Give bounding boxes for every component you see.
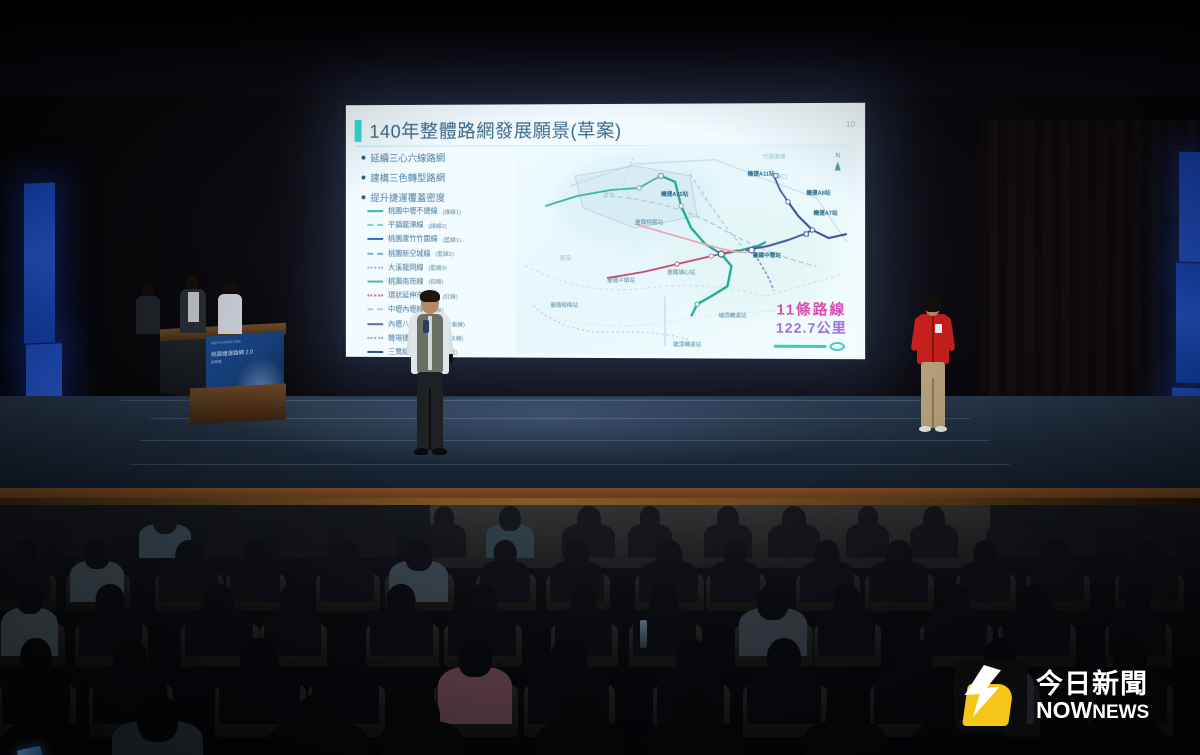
- audience-member: [112, 694, 203, 755]
- legend-line-swatch: [367, 337, 383, 339]
- audience-head: [359, 506, 383, 534]
- audience-head: [671, 694, 716, 746]
- audience-head: [1000, 506, 1024, 534]
- audience-head: [826, 694, 864, 738]
- stage-rail: [0, 498, 1200, 505]
- legend-line-swatch: [367, 252, 383, 254]
- slide-bullet-list: 延續三心六線路網 建構三色轉型路網 提升捷運覆蓋密度: [362, 150, 510, 210]
- stage-attendee-centre: [178, 276, 208, 332]
- floor-plank-line: [130, 464, 1010, 465]
- audience-member: [380, 694, 463, 755]
- legend-tag: (綠線2): [428, 221, 446, 230]
- map-station-label: 機捷A7站: [813, 209, 837, 217]
- route-network-map: 竹圍漁港機捷A11站機捷A15站機捷A8站機捷A7站林口蘆竹臺鐵桃園站臺鐵中壢站…: [515, 145, 855, 355]
- audience-head: [885, 540, 912, 571]
- audience-head: [295, 694, 340, 746]
- bullet-dot-icon: [362, 195, 366, 199]
- audience-head: [294, 506, 316, 531]
- legend-line-swatch: [367, 323, 383, 325]
- audience-head: [405, 540, 432, 571]
- banner-organisation: 桃園市政府捷運工程局: [211, 339, 241, 345]
- map-station-label: 觀音: [560, 254, 571, 262]
- stage-attendee-right: [218, 282, 244, 332]
- audience-head: [550, 638, 587, 681]
- legend-line-swatch: [367, 309, 383, 311]
- podium-banner: 桃園市政府捷運工程局 桃園捷運路網 2.0 說明會: [206, 331, 284, 390]
- legend-row: 平鎮龍潭線(綠線2): [367, 220, 515, 230]
- staff-leg-gap: [932, 378, 934, 428]
- legend-row: 大溪龍岡線(藍線3): [367, 262, 515, 272]
- torso: [136, 296, 160, 334]
- legend-tag: (棕線): [428, 277, 443, 286]
- audience-head: [499, 506, 521, 531]
- headline-line-count: 11條路線: [776, 303, 847, 320]
- audience-shoulders: [818, 608, 875, 656]
- audience-head: [723, 540, 746, 566]
- microphone-icon: [423, 320, 429, 333]
- presenter: [404, 292, 456, 470]
- legend-row: 桃園中壢不捷線(綠線1): [367, 206, 515, 216]
- audience-head: [387, 584, 416, 617]
- ceiling-dark-area: [0, 0, 1200, 95]
- legend-line-swatch: [367, 295, 383, 297]
- compass-north-label: N: [836, 153, 840, 159]
- presenter-leg-gap: [429, 388, 431, 450]
- audience-head: [857, 506, 877, 529]
- audience-head: [1044, 540, 1069, 569]
- bullet-item: 建構三色轉型路網: [362, 170, 510, 184]
- floor-plank-line: [140, 440, 990, 441]
- audience-head: [1141, 506, 1163, 531]
- auditorium-scene: 140年整體路網發展願景(草案) 10 延續三心六線路網 建構三色轉型路網 提升…: [0, 0, 1200, 755]
- banner-title: 桃園捷運路網 2.0: [211, 347, 253, 358]
- audience-head: [717, 506, 739, 531]
- audience-head: [26, 694, 64, 738]
- map-station-label: 機捷A11站: [748, 170, 775, 178]
- bullet-text: 延續三心六線路網: [370, 150, 445, 164]
- audience-head: [153, 506, 177, 534]
- audience-member: [4, 694, 87, 755]
- blue-light-panel-left-upper: [24, 182, 55, 343]
- audience-head: [561, 694, 603, 742]
- legend-label: 大溪龍岡線: [388, 262, 423, 272]
- audience-member: [818, 584, 875, 656]
- audience-head: [216, 506, 236, 529]
- audience-head: [833, 584, 859, 614]
- bullet-item: 提升捷運覆蓋密度: [362, 190, 510, 204]
- audience-head: [895, 638, 932, 681]
- legend-line-swatch: [367, 238, 383, 240]
- audience-head: [577, 506, 601, 534]
- legend-label: 桃園南崁線: [388, 277, 423, 287]
- legend-line-swatch: [367, 224, 383, 226]
- headline-length: 122.7公里: [776, 320, 847, 337]
- audience-head: [650, 584, 679, 617]
- audience-head: [137, 694, 179, 742]
- title-accent-bar: [355, 120, 362, 142]
- map-station-label: 機捷A8站: [806, 189, 830, 197]
- department-logo: [774, 342, 845, 351]
- bullet-item: 延續三心六線路網: [362, 150, 510, 164]
- audience-head: [571, 584, 597, 614]
- audience-head: [941, 584, 970, 617]
- legend-label: 平鎮龍潭線: [388, 220, 423, 230]
- map-station-label: 臺鐵桃園站: [635, 218, 663, 226]
- audience-head: [175, 540, 202, 571]
- watermark-text: 今日新聞 NOWNEWS: [1036, 671, 1149, 722]
- legend-label: 桃園蘆竹竹圍線: [388, 234, 438, 244]
- audience-head: [458, 638, 492, 677]
- map-station-label: 林口: [776, 173, 787, 181]
- audience-member: [320, 540, 374, 602]
- legend-row: 桃園新空城線(藍線2): [367, 248, 515, 258]
- audience-member: [536, 694, 627, 755]
- audience-head: [280, 584, 306, 614]
- watermark-news: NEWS: [1092, 702, 1149, 723]
- map-station-label: 臺鐵楊梅站: [550, 301, 578, 309]
- map-station-label: 機捷A15站: [661, 190, 688, 198]
- audience-head: [564, 540, 589, 569]
- blue-light-panel-right-middle: [1176, 262, 1200, 383]
- staff-right-shoe: [935, 426, 947, 432]
- audience-head: [330, 638, 361, 674]
- map-station-label: 埔頂轉運站: [718, 311, 746, 319]
- audience-head: [334, 540, 359, 569]
- bullet-dot-icon: [362, 175, 366, 179]
- audience-member: [281, 506, 329, 558]
- audience-head: [814, 540, 839, 569]
- audience-head: [466, 584, 497, 620]
- audience-head: [1124, 584, 1150, 614]
- staff-badge: [935, 324, 942, 333]
- water-bottle: [640, 620, 647, 648]
- slide-page-number: 10: [846, 120, 855, 129]
- banner-subtitle: 說明會: [211, 360, 222, 366]
- legend-line-swatch: [367, 210, 383, 212]
- legend-line-swatch: [367, 351, 383, 353]
- audience-head: [17, 584, 43, 614]
- map-station-label: 臺鐵平鎮站: [607, 276, 635, 284]
- staff-left-shoe: [919, 426, 931, 432]
- legend-label: 桃園新空城線: [388, 248, 430, 258]
- audience-head: [640, 506, 660, 529]
- audience-member: [645, 694, 744, 755]
- slide-title: 140年整體路網發展願景(草案): [369, 117, 621, 144]
- legend-tag: (藍線1): [443, 235, 461, 244]
- audience-head: [767, 638, 801, 677]
- presenter-left-shoe: [414, 448, 428, 455]
- audience-head: [923, 506, 945, 531]
- audience-head: [1135, 540, 1162, 571]
- stage-attendee-left: [136, 284, 162, 332]
- map-station-label: 臺鐵埔心站: [667, 268, 695, 276]
- audience-head: [241, 638, 278, 681]
- legend-tag: (綠線1): [443, 207, 461, 216]
- staff-vest-zipper: [932, 316, 934, 362]
- audience-head: [493, 540, 516, 566]
- audience-head: [1063, 506, 1083, 529]
- audience-head: [782, 506, 806, 534]
- map-station-label: 臺鐵中壢站: [753, 251, 781, 259]
- audience-head: [402, 694, 440, 738]
- legend-label: 桃園中壢不捷線: [388, 206, 438, 216]
- legend-row: 桃園蘆竹竹圍線(藍線1): [367, 234, 515, 244]
- audience-member: [804, 694, 887, 755]
- presentation-clicker-icon: [449, 354, 453, 363]
- logo-bar-icon: [774, 345, 827, 348]
- legend-line-swatch: [367, 280, 383, 282]
- audience-head: [973, 540, 996, 566]
- map-station-label: 龍潭轉運站: [673, 340, 701, 348]
- audience-head: [757, 584, 788, 620]
- audience-head: [243, 540, 266, 566]
- watermark-now: NOW: [1036, 697, 1092, 723]
- presenter-right-shoe: [432, 448, 447, 455]
- compass-rose: N: [835, 153, 841, 170]
- audience-member: [370, 584, 433, 656]
- map-headline: 11條路線 122.7公里: [776, 303, 847, 337]
- audience-member: [269, 694, 368, 755]
- audience-head: [655, 540, 682, 571]
- logo-ring-icon: [830, 342, 845, 351]
- audience-head: [13, 540, 36, 566]
- compass-needle-icon: [835, 161, 841, 170]
- bullet-text: 提升捷運覆蓋密度: [370, 190, 445, 204]
- audience-head: [96, 584, 125, 617]
- audience-head: [1020, 584, 1051, 620]
- blue-light-panel-right-upper: [1179, 152, 1200, 263]
- torso: [218, 294, 242, 334]
- audience-head: [10, 506, 30, 529]
- audience-head: [434, 506, 454, 529]
- presenter-hair: [420, 290, 440, 302]
- map-station-label: 蘆竹: [603, 191, 614, 199]
- audience-head: [20, 638, 51, 674]
- bullet-text: 建構三色轉型路網: [370, 170, 445, 184]
- audience-head: [113, 638, 147, 677]
- map-station-label: 竹圍漁港: [763, 152, 786, 160]
- staff-hair: [923, 296, 942, 312]
- nownews-watermark: 今日新聞 NOWNEWS: [955, 647, 1190, 745]
- audience-head: [675, 638, 706, 674]
- legend-tag: (藍線3): [428, 263, 446, 272]
- audience-member: [869, 540, 928, 602]
- nownews-logo-icon: [955, 660, 1027, 732]
- watermark-english: NOWNEWS: [1036, 699, 1149, 722]
- audience-head: [76, 506, 98, 531]
- audience-head: [203, 584, 234, 620]
- staff-member: [911, 298, 955, 446]
- legend-tag: (藍線2): [435, 249, 453, 258]
- audience-head: [84, 540, 109, 569]
- legend-row: 桃園南崁線(棕線): [367, 277, 515, 287]
- shirt-front: [188, 292, 199, 322]
- legend-line-swatch: [367, 266, 383, 268]
- podium: 桃園市政府捷運工程局 桃園捷運路網 2.0 說明會: [160, 326, 286, 422]
- bullet-dot-icon: [362, 156, 366, 160]
- watermark-chinese: 今日新聞: [1036, 671, 1149, 698]
- podium-base: [190, 383, 286, 424]
